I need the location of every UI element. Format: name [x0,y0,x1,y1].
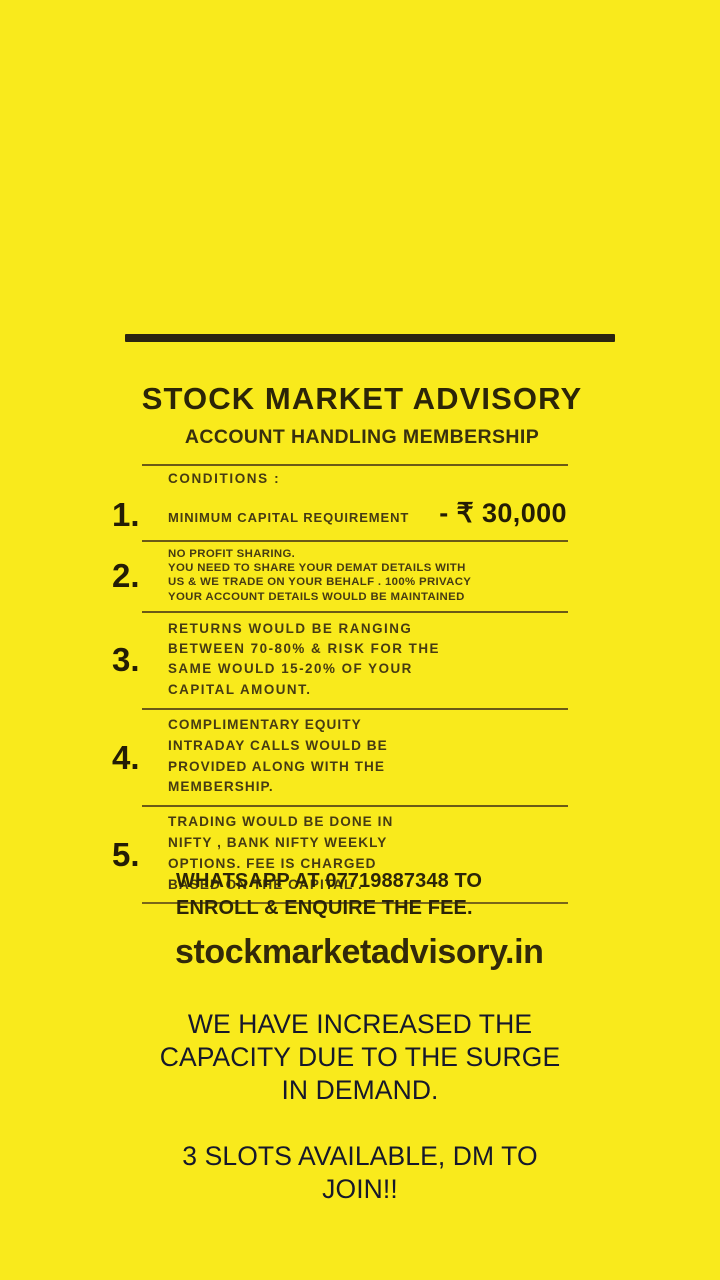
condition-body-2: NO PROFIT SHARING. YOU NEED TO SHARE YOU… [142,544,568,608]
website-url: stockmarketadvisory.in [175,933,544,972]
condition-3-line-2: BETWEEN 70-80% & RISK FOR THE [168,639,568,659]
condition-number-1: 1. [112,498,164,531]
poster-canvas: STOCK MARKET ADVISORY ACCOUNT HANDLING M… [0,0,720,1280]
caption-spacer [0,1107,720,1140]
contact-block: WHATSAPP AT 07719887348 TO ENROLL & ENQU… [176,868,596,922]
condition-row-1: 1. MINIMUM CAPITAL REQUIREMENT - ₹ 30,00… [142,490,568,540]
condition-number-2: 2. [112,559,164,592]
condition-3-line-1: RETURNS WOULD BE RANGING [168,619,568,639]
caption-line-2: CAPACITY DUE TO THE SURGE [0,1041,720,1074]
caption-line-1: WE HAVE INCREASED THE [0,1008,720,1041]
flyer-subtitle: ACCOUNT HANDLING MEMBERSHIP [0,426,720,449]
caption-line-3: IN DEMAND. [0,1074,720,1107]
conditions-table: CONDITIONS : 1. MINIMUM CAPITAL REQUIREM… [142,464,568,904]
capital-requirement-label: MINIMUM CAPITAL REQUIREMENT [168,510,409,525]
condition-body-3: RETURNS WOULD BE RANGING BETWEEN 70-80% … [142,615,568,705]
condition-2-line-1: NO PROFIT SHARING. [168,547,568,561]
condition-4-line-3: PROVIDED ALONG WITH THE [168,757,568,778]
flyer-graphic: STOCK MARKET ADVISORY ACCOUNT HANDLING M… [0,355,720,449]
caption-line-5: JOIN!! [0,1173,720,1206]
condition-body-4: COMPLIMENTARY EQUITY INTRADAY CALLS WOUL… [142,712,568,802]
condition-row-3: 3. RETURNS WOULD BE RANGING BETWEEN 70-8… [142,613,568,708]
whatsapp-line-1: WHATSAPP AT 07719887348 TO [176,868,596,895]
condition-4-line-2: INTRADAY CALLS WOULD BE [168,736,568,757]
condition-number-4: 4. [112,741,164,774]
condition-row-2: 2. NO PROFIT SHARING. YOU NEED TO SHARE … [142,542,568,611]
condition-4-line-4: MEMBERSHIP. [168,777,568,798]
condition-3-line-4: CAPITAL AMOUNT. [168,680,568,700]
condition-5-line-2: NIFTY , BANK NIFTY WEEKLY [168,833,568,854]
post-caption: WE HAVE INCREASED THE CAPACITY DUE TO TH… [0,1008,720,1206]
condition-2-line-2: YOU NEED TO SHARE YOUR DEMAT DETAILS WIT… [168,561,568,575]
conditions-header: CONDITIONS : [142,466,568,490]
condition-number-5: 5. [112,838,164,871]
capital-requirement-value: - ₹ 30,000 [439,498,567,529]
top-divider-bar [125,334,615,342]
caption-line-4: 3 SLOTS AVAILABLE, DM TO [0,1140,720,1173]
condition-3-line-3: SAME WOULD 15-20% OF YOUR [168,659,568,679]
whatsapp-line-2: ENROLL & ENQUIRE THE FEE. [176,895,596,922]
condition-body-1: MINIMUM CAPITAL REQUIREMENT - ₹ 30,000 [142,492,568,537]
condition-4-line-1: COMPLIMENTARY EQUITY [168,715,568,736]
condition-5-line-1: TRADING WOULD BE DONE IN [168,812,568,833]
condition-2-line-4: YOUR ACCOUNT DETAILS WOULD BE MAINTAINED [168,590,568,604]
condition-row-4: 4. COMPLIMENTARY EQUITY INTRADAY CALLS W… [142,710,568,805]
condition-2-line-3: US & WE TRADE ON YOUR BEHALF . 100% PRIV… [168,575,568,589]
condition-number-3: 3. [112,643,164,676]
flyer-title: STOCK MARKET ADVISORY [0,381,720,417]
